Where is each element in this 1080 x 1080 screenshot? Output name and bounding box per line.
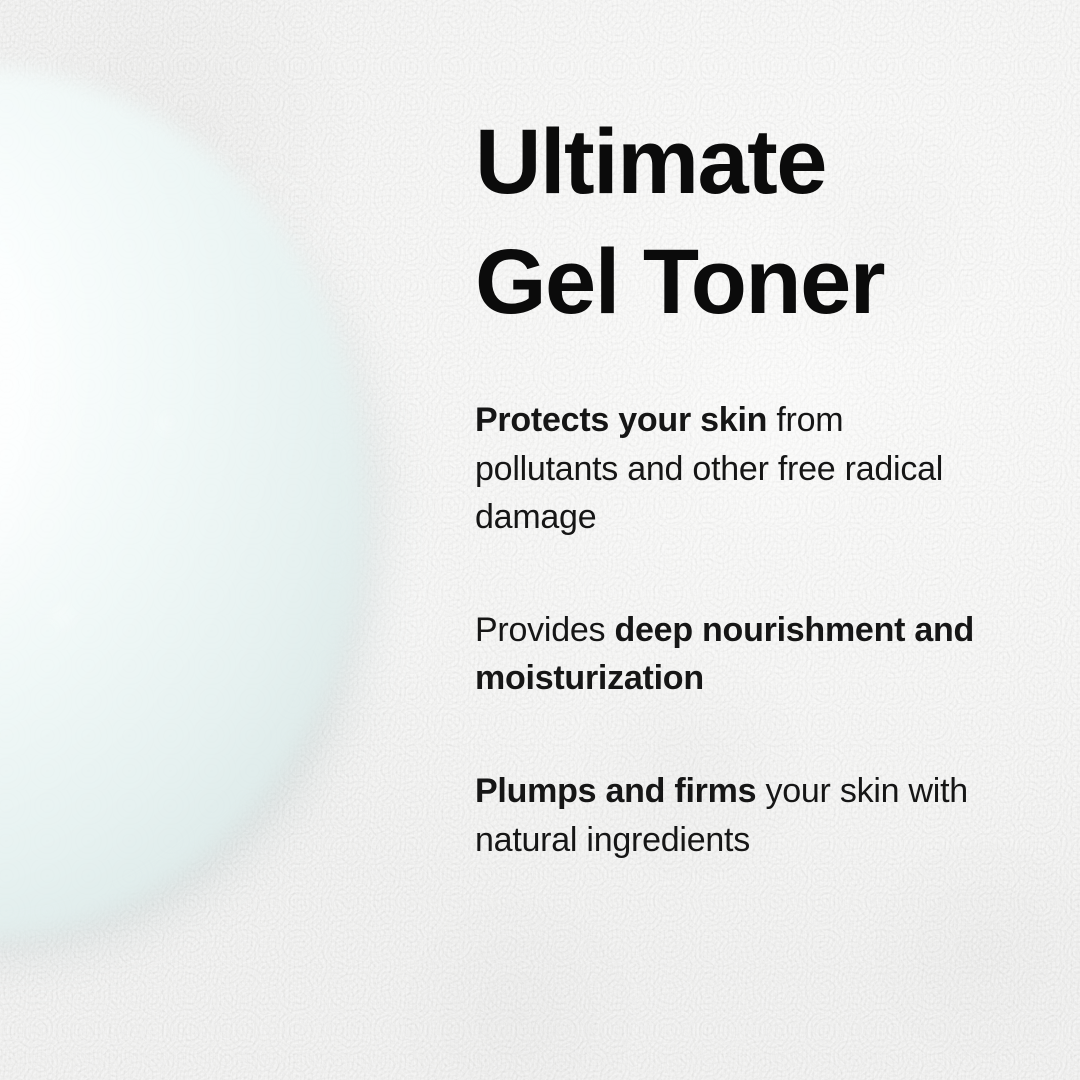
benefit-protection-lead: Protects your skin xyxy=(475,401,767,439)
text-column: Ultimate Gel Toner Protects your skin fr… xyxy=(475,0,1015,1080)
gel-blob-texture-overlay xyxy=(0,55,380,955)
title-line-1: Ultimate xyxy=(475,103,995,223)
benefit-item-protection: Protects your skin from pollutants and o… xyxy=(475,396,975,542)
page-title: Ultimate Gel Toner xyxy=(475,103,995,342)
benefit-item-nourishment: Provides deep nourishment and moisturiza… xyxy=(475,606,975,703)
product-benefit-card: Ultimate Gel Toner Protects your skin fr… xyxy=(0,0,1080,1080)
gel-blob-image xyxy=(0,55,380,955)
benefit-item-firmness: Plumps and firms your skin with natural … xyxy=(475,767,975,864)
benefit-list: Protects your skin from pollutants and o… xyxy=(475,396,975,864)
benefit-firmness-lead: Plumps and firms xyxy=(475,772,756,810)
title-line-2: Gel Toner xyxy=(475,223,995,343)
benefit-nourishment-lead: Provides xyxy=(475,611,614,649)
